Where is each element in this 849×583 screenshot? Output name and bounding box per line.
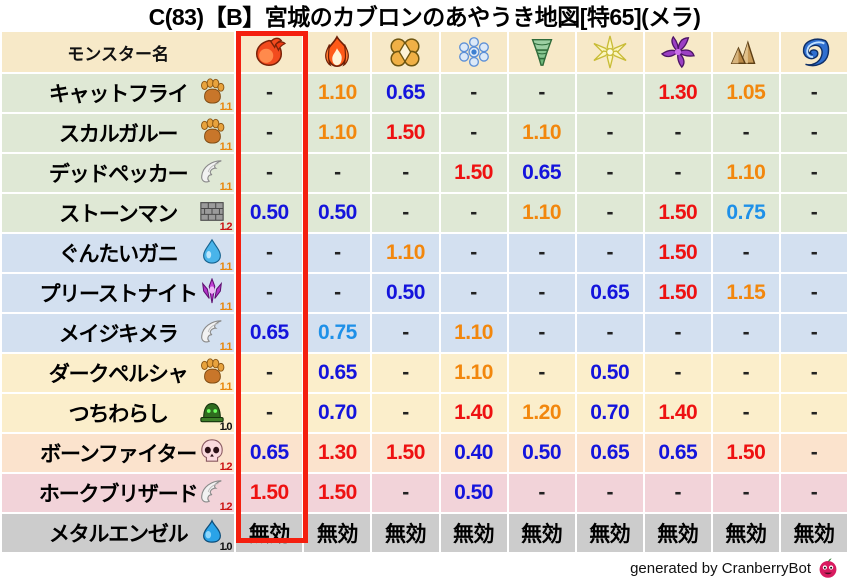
resistance-cell[interactable]: -: [509, 354, 575, 392]
monster-multiplier: 1.1: [220, 142, 232, 152]
header-element-4[interactable]: [441, 32, 507, 72]
resistance-cell[interactable]: -: [577, 74, 643, 112]
monster-name-label: スカルガルー: [59, 118, 177, 148]
resistance-cell[interactable]: 0.50: [441, 474, 507, 512]
monster-name-cell[interactable]: ボーンファイター1.2: [2, 434, 234, 472]
resistance-cell[interactable]: 1.30: [304, 434, 370, 472]
table-row: ダークペルシャ1.1-0.65-1.10-0.50---: [2, 354, 847, 392]
gira-flame-icon: [318, 35, 356, 69]
table-row: スカルガルー1.1-1.101.50-1.10----: [2, 114, 847, 152]
resistance-cell[interactable]: 1.20: [509, 394, 575, 432]
monster-multiplier: 1.0: [220, 542, 232, 552]
resistance-cell[interactable]: 無効: [577, 514, 643, 552]
resistance-cell[interactable]: -: [577, 114, 643, 152]
resistance-cell[interactable]: 0.75: [304, 314, 370, 352]
monster-name-label: メイジキメラ: [59, 318, 178, 348]
resistance-cell[interactable]: -: [236, 154, 302, 192]
resistance-cell[interactable]: -: [713, 234, 779, 272]
monster-multiplier: 1.0: [220, 422, 232, 432]
resistance-cell[interactable]: -: [781, 154, 847, 192]
monster-name-label: つちわらし: [69, 398, 168, 428]
resistance-cell[interactable]: -: [441, 234, 507, 272]
resistance-cell[interactable]: 無効: [372, 514, 438, 552]
resistance-cell[interactable]: -: [577, 314, 643, 352]
resistance-cell[interactable]: -: [645, 154, 711, 192]
resistance-cell[interactable]: 0.50: [304, 194, 370, 232]
monster-name-cell[interactable]: ダークペルシャ1.1: [2, 354, 234, 392]
resistance-cell[interactable]: 1.50: [713, 434, 779, 472]
monster-multiplier: 1.2: [220, 222, 232, 232]
monster-multiplier: 1.1: [220, 102, 232, 112]
monster-multiplier: 1.2: [220, 462, 232, 472]
resistance-cell[interactable]: 1.10: [304, 74, 370, 112]
monster-multiplier: 1.1: [220, 182, 232, 192]
resistance-cell[interactable]: 1.10: [441, 314, 507, 352]
resistance-cell[interactable]: -: [781, 234, 847, 272]
header-element-7[interactable]: [645, 32, 711, 72]
monster-name-cell[interactable]: ストーンマン1.2: [2, 194, 234, 232]
bagi-wind-icon: [523, 35, 561, 69]
header-element-6[interactable]: [577, 32, 643, 72]
resistance-cell[interactable]: 1.10: [509, 194, 575, 232]
monster-name-label: ぐんたいガニ: [59, 238, 178, 268]
resistance-cell[interactable]: 1.40: [441, 394, 507, 432]
monster-name-cell[interactable]: メイジキメラ1.1: [2, 314, 234, 352]
dein-light-icon: [591, 35, 629, 69]
resistance-cell[interactable]: 0.65: [645, 434, 711, 472]
resistance-cell[interactable]: -: [236, 74, 302, 112]
resistance-cell[interactable]: 0.65: [236, 434, 302, 472]
resistance-cell[interactable]: 0.65: [304, 354, 370, 392]
resistance-cell[interactable]: -: [781, 354, 847, 392]
table-row: つちわらし1.0-0.70-1.401.200.701.40--: [2, 394, 847, 432]
resistance-cell[interactable]: 1.50: [645, 194, 711, 232]
monster-name-label: メタルエンゼル: [49, 518, 188, 548]
resistance-cell[interactable]: 無効: [236, 514, 302, 552]
table-row: キャットフライ1.1-1.100.65---1.301.05-: [2, 74, 847, 112]
resistance-cell[interactable]: -: [645, 314, 711, 352]
resistance-cell[interactable]: 1.50: [236, 474, 302, 512]
resistance-cell[interactable]: 1.40: [645, 394, 711, 432]
header-element-8[interactable]: [713, 32, 779, 72]
monster-multiplier: 1.1: [220, 302, 232, 312]
resistance-cell[interactable]: -: [645, 114, 711, 152]
resistance-cell[interactable]: 1.50: [441, 154, 507, 192]
resistance-cell[interactable]: -: [304, 274, 370, 312]
resistance-cell[interactable]: 1.05: [713, 74, 779, 112]
table-header-row: モンスター名: [2, 32, 847, 72]
resistance-cell[interactable]: 0.50: [577, 354, 643, 392]
table-row: プリーストナイト1.1--0.50--0.651.501.15-: [2, 274, 847, 312]
resistance-cell[interactable]: -: [713, 474, 779, 512]
monster-name-label: ホークブリザード: [39, 478, 197, 508]
resistance-cell[interactable]: -: [509, 234, 575, 272]
dorma-dark-icon: [659, 35, 697, 69]
mera-fireball-icon: [250, 35, 288, 69]
resistance-cell[interactable]: 0.65: [577, 274, 643, 312]
table-row: デッドペッカー1.1---1.500.65--1.10-: [2, 154, 847, 192]
resistance-cell[interactable]: -: [509, 274, 575, 312]
header-element-1[interactable]: [236, 32, 302, 72]
resistance-cell[interactable]: -: [577, 194, 643, 232]
monster-name-cell[interactable]: ぐんたいガニ1.1: [2, 234, 234, 272]
resistance-cell[interactable]: 1.30: [645, 74, 711, 112]
resistance-cell[interactable]: -: [372, 474, 438, 512]
hyado-ice-icon: [455, 35, 493, 69]
page-title: C(83)【B】宮城のカブロンのあやうき地図[特65](メラ): [0, 0, 849, 30]
resistance-cell[interactable]: -: [645, 354, 711, 392]
resistance-cell[interactable]: -: [713, 394, 779, 432]
monster-name-cell[interactable]: つちわらし1.0: [2, 394, 234, 432]
resistance-cell[interactable]: -: [441, 274, 507, 312]
resistance-cell[interactable]: 1.15: [713, 274, 779, 312]
resistance-cell[interactable]: 0.50: [372, 274, 438, 312]
resistance-cell[interactable]: -: [781, 114, 847, 152]
header-element-3[interactable]: [372, 32, 438, 72]
resistance-cell[interactable]: 1.50: [304, 474, 370, 512]
resistance-cell[interactable]: -: [304, 154, 370, 192]
footer-label: generated by CranberryBot: [630, 560, 811, 577]
table-row: ホークブリザード1.21.501.50-0.50-----: [2, 474, 847, 512]
resistance-cell[interactable]: -: [577, 154, 643, 192]
resistance-cell[interactable]: 0.75: [713, 194, 779, 232]
resistance-cell[interactable]: 無効: [645, 514, 711, 552]
resistance-cell[interactable]: 無効: [713, 514, 779, 552]
monster-name-cell[interactable]: デッドペッカー1.1: [2, 154, 234, 192]
monster-name-label: ダークペルシャ: [49, 358, 188, 388]
resistance-cell[interactable]: 無効: [441, 514, 507, 552]
resistance-cell[interactable]: -: [441, 74, 507, 112]
resistance-cell[interactable]: 無効: [304, 514, 370, 552]
resistance-cell[interactable]: -: [304, 234, 370, 272]
resistance-cell[interactable]: -: [236, 394, 302, 432]
monster-name-cell[interactable]: プリーストナイト1.1: [2, 274, 234, 312]
monster-name-cell[interactable]: メタルエンゼル1.0: [2, 514, 234, 552]
zaki-wave-icon: [795, 35, 833, 69]
monster-name-label: プリーストナイト: [39, 278, 196, 308]
resistance-cell[interactable]: -: [441, 194, 507, 232]
resistance-cell[interactable]: -: [577, 474, 643, 512]
resistance-cell[interactable]: -: [509, 74, 575, 112]
resistance-cell[interactable]: 1.10: [304, 114, 370, 152]
resistance-cell[interactable]: -: [372, 154, 438, 192]
resistance-cell[interactable]: -: [509, 314, 575, 352]
header-element-2[interactable]: [304, 32, 370, 72]
table-row: ぐんたいガニ1.1--1.10---1.50--: [2, 234, 847, 272]
resistance-cell[interactable]: -: [781, 74, 847, 112]
resistance-cell[interactable]: 0.50: [509, 434, 575, 472]
table-row: ストーンマン1.20.500.50--1.10-1.500.75-: [2, 194, 847, 232]
header-monster-name: モンスター名: [2, 32, 234, 72]
resistance-cell[interactable]: 0.65: [509, 154, 575, 192]
monster-name-label: キャットフライ: [49, 78, 188, 108]
resistance-table-page: C(83)【B】宮城のカブロンのあやうき地図[特65](メラ) モンスター名キャ…: [0, 0, 849, 583]
table-row: ボーンファイター1.20.651.301.500.400.500.650.651…: [2, 434, 847, 472]
resistance-cell[interactable]: 1.10: [372, 234, 438, 272]
resistance-cell[interactable]: -: [781, 394, 847, 432]
monster-name-label: デッドペッカー: [49, 158, 188, 188]
jiba-earth-icon: [727, 35, 765, 69]
resistance-cell[interactable]: -: [236, 234, 302, 272]
resistance-cell[interactable]: -: [236, 114, 302, 152]
monster-name-cell[interactable]: ホークブリザード1.2: [2, 474, 234, 512]
resistance-cell[interactable]: -: [441, 114, 507, 152]
cranberry-icon: [817, 557, 839, 579]
resistance-table: モンスター名キャットフライ1.1-1.100.65---1.301.05-スカル…: [0, 30, 849, 554]
resistance-cell[interactable]: -: [372, 194, 438, 232]
resistance-cell[interactable]: 0.50: [236, 194, 302, 232]
resistance-cell[interactable]: -: [236, 354, 302, 392]
resistance-cell[interactable]: -: [781, 434, 847, 472]
resistance-cell[interactable]: -: [781, 274, 847, 312]
monster-name-label: ストーンマン: [59, 198, 177, 228]
resistance-cell[interactable]: 1.50: [645, 274, 711, 312]
resistance-cell[interactable]: -: [372, 354, 438, 392]
table-row: メイジキメラ1.10.650.75-1.10-----: [2, 314, 847, 352]
io-explosion-icon: [386, 35, 424, 69]
resistance-cell[interactable]: 0.70: [577, 394, 643, 432]
monster-name-cell[interactable]: スカルガルー1.1: [2, 114, 234, 152]
resistance-cell[interactable]: 0.65: [236, 314, 302, 352]
resistance-cell[interactable]: 無効: [509, 514, 575, 552]
header-element-9[interactable]: [781, 32, 847, 72]
resistance-cell[interactable]: -: [781, 474, 847, 512]
table-row: メタルエンゼル1.0無効無効無効無効無効無効無効無効無効: [2, 514, 847, 552]
resistance-cell[interactable]: 1.10: [509, 114, 575, 152]
resistance-cell[interactable]: 1.10: [713, 154, 779, 192]
resistance-cell[interactable]: -: [645, 474, 711, 512]
resistance-cell[interactable]: 0.65: [372, 74, 438, 112]
resistance-cell[interactable]: 0.70: [304, 394, 370, 432]
monster-multiplier: 1.1: [220, 262, 232, 272]
resistance-cell[interactable]: -: [713, 314, 779, 352]
monster-multiplier: 1.2: [220, 502, 232, 512]
resistance-cell[interactable]: -: [577, 234, 643, 272]
resistance-cell[interactable]: 0.40: [441, 434, 507, 472]
resistance-cell[interactable]: 1.10: [441, 354, 507, 392]
resistance-cell[interactable]: -: [713, 114, 779, 152]
resistance-cell[interactable]: 0.65: [577, 434, 643, 472]
resistance-cell[interactable]: 1.50: [372, 434, 438, 472]
resistance-cell[interactable]: -: [236, 274, 302, 312]
resistance-cell[interactable]: 1.50: [645, 234, 711, 272]
monster-multiplier: 1.1: [220, 382, 232, 392]
footer: generated by CranberryBot: [630, 557, 839, 579]
resistance-cell[interactable]: 1.50: [372, 114, 438, 152]
resistance-cell[interactable]: -: [713, 354, 779, 392]
resistance-cell[interactable]: -: [372, 394, 438, 432]
resistance-cell[interactable]: 無効: [781, 514, 847, 552]
resistance-cell[interactable]: -: [509, 474, 575, 512]
monster-multiplier: 1.1: [220, 342, 232, 352]
monster-name-cell[interactable]: キャットフライ1.1: [2, 74, 234, 112]
header-element-5[interactable]: [509, 32, 575, 72]
monster-name-label: ボーンファイター: [40, 438, 196, 468]
resistance-cell[interactable]: -: [372, 314, 438, 352]
resistance-cell[interactable]: -: [781, 314, 847, 352]
resistance-cell[interactable]: -: [781, 194, 847, 232]
